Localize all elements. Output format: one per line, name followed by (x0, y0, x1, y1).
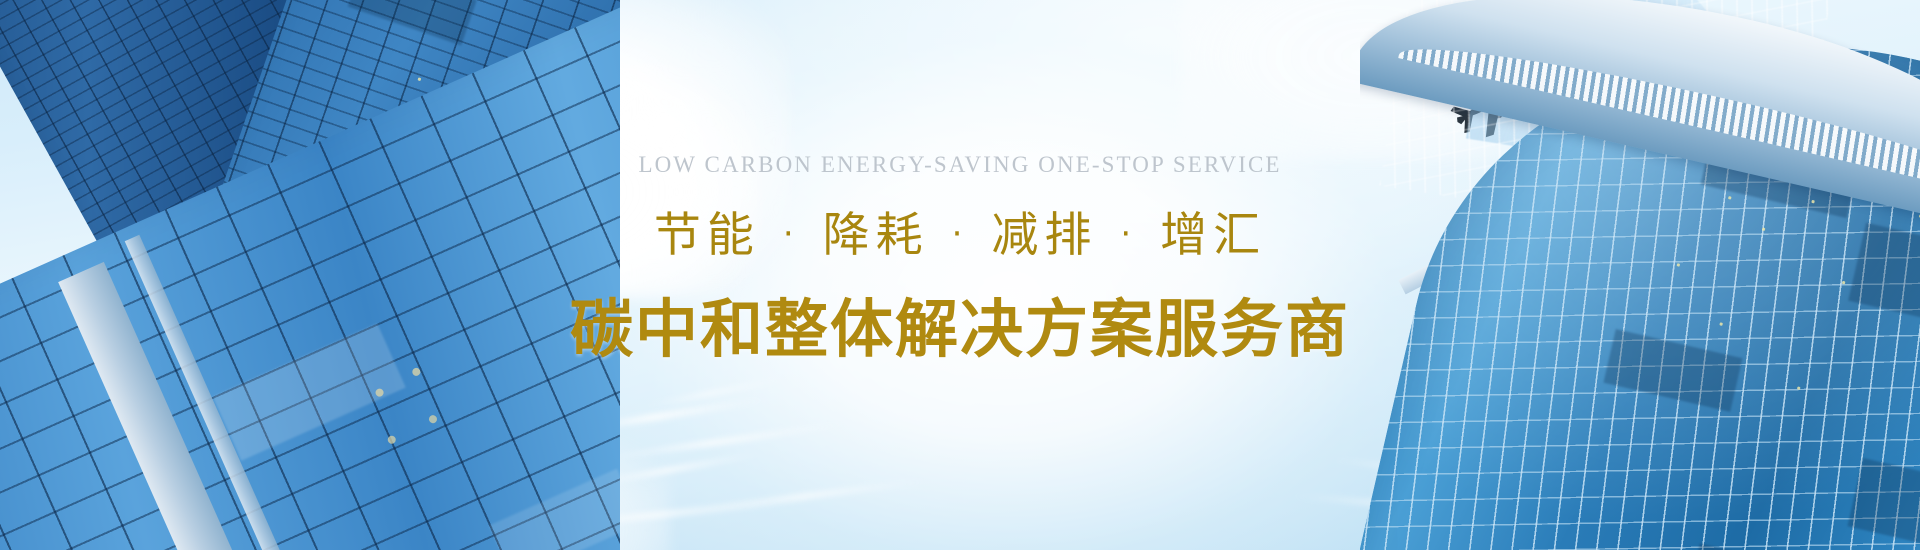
right-building-cluster (1360, 0, 1920, 550)
hero-banner: LOW CARBON ENERGY-SAVING ONE-STOP SERVIC… (0, 0, 1920, 550)
left-building-cluster (0, 0, 620, 550)
